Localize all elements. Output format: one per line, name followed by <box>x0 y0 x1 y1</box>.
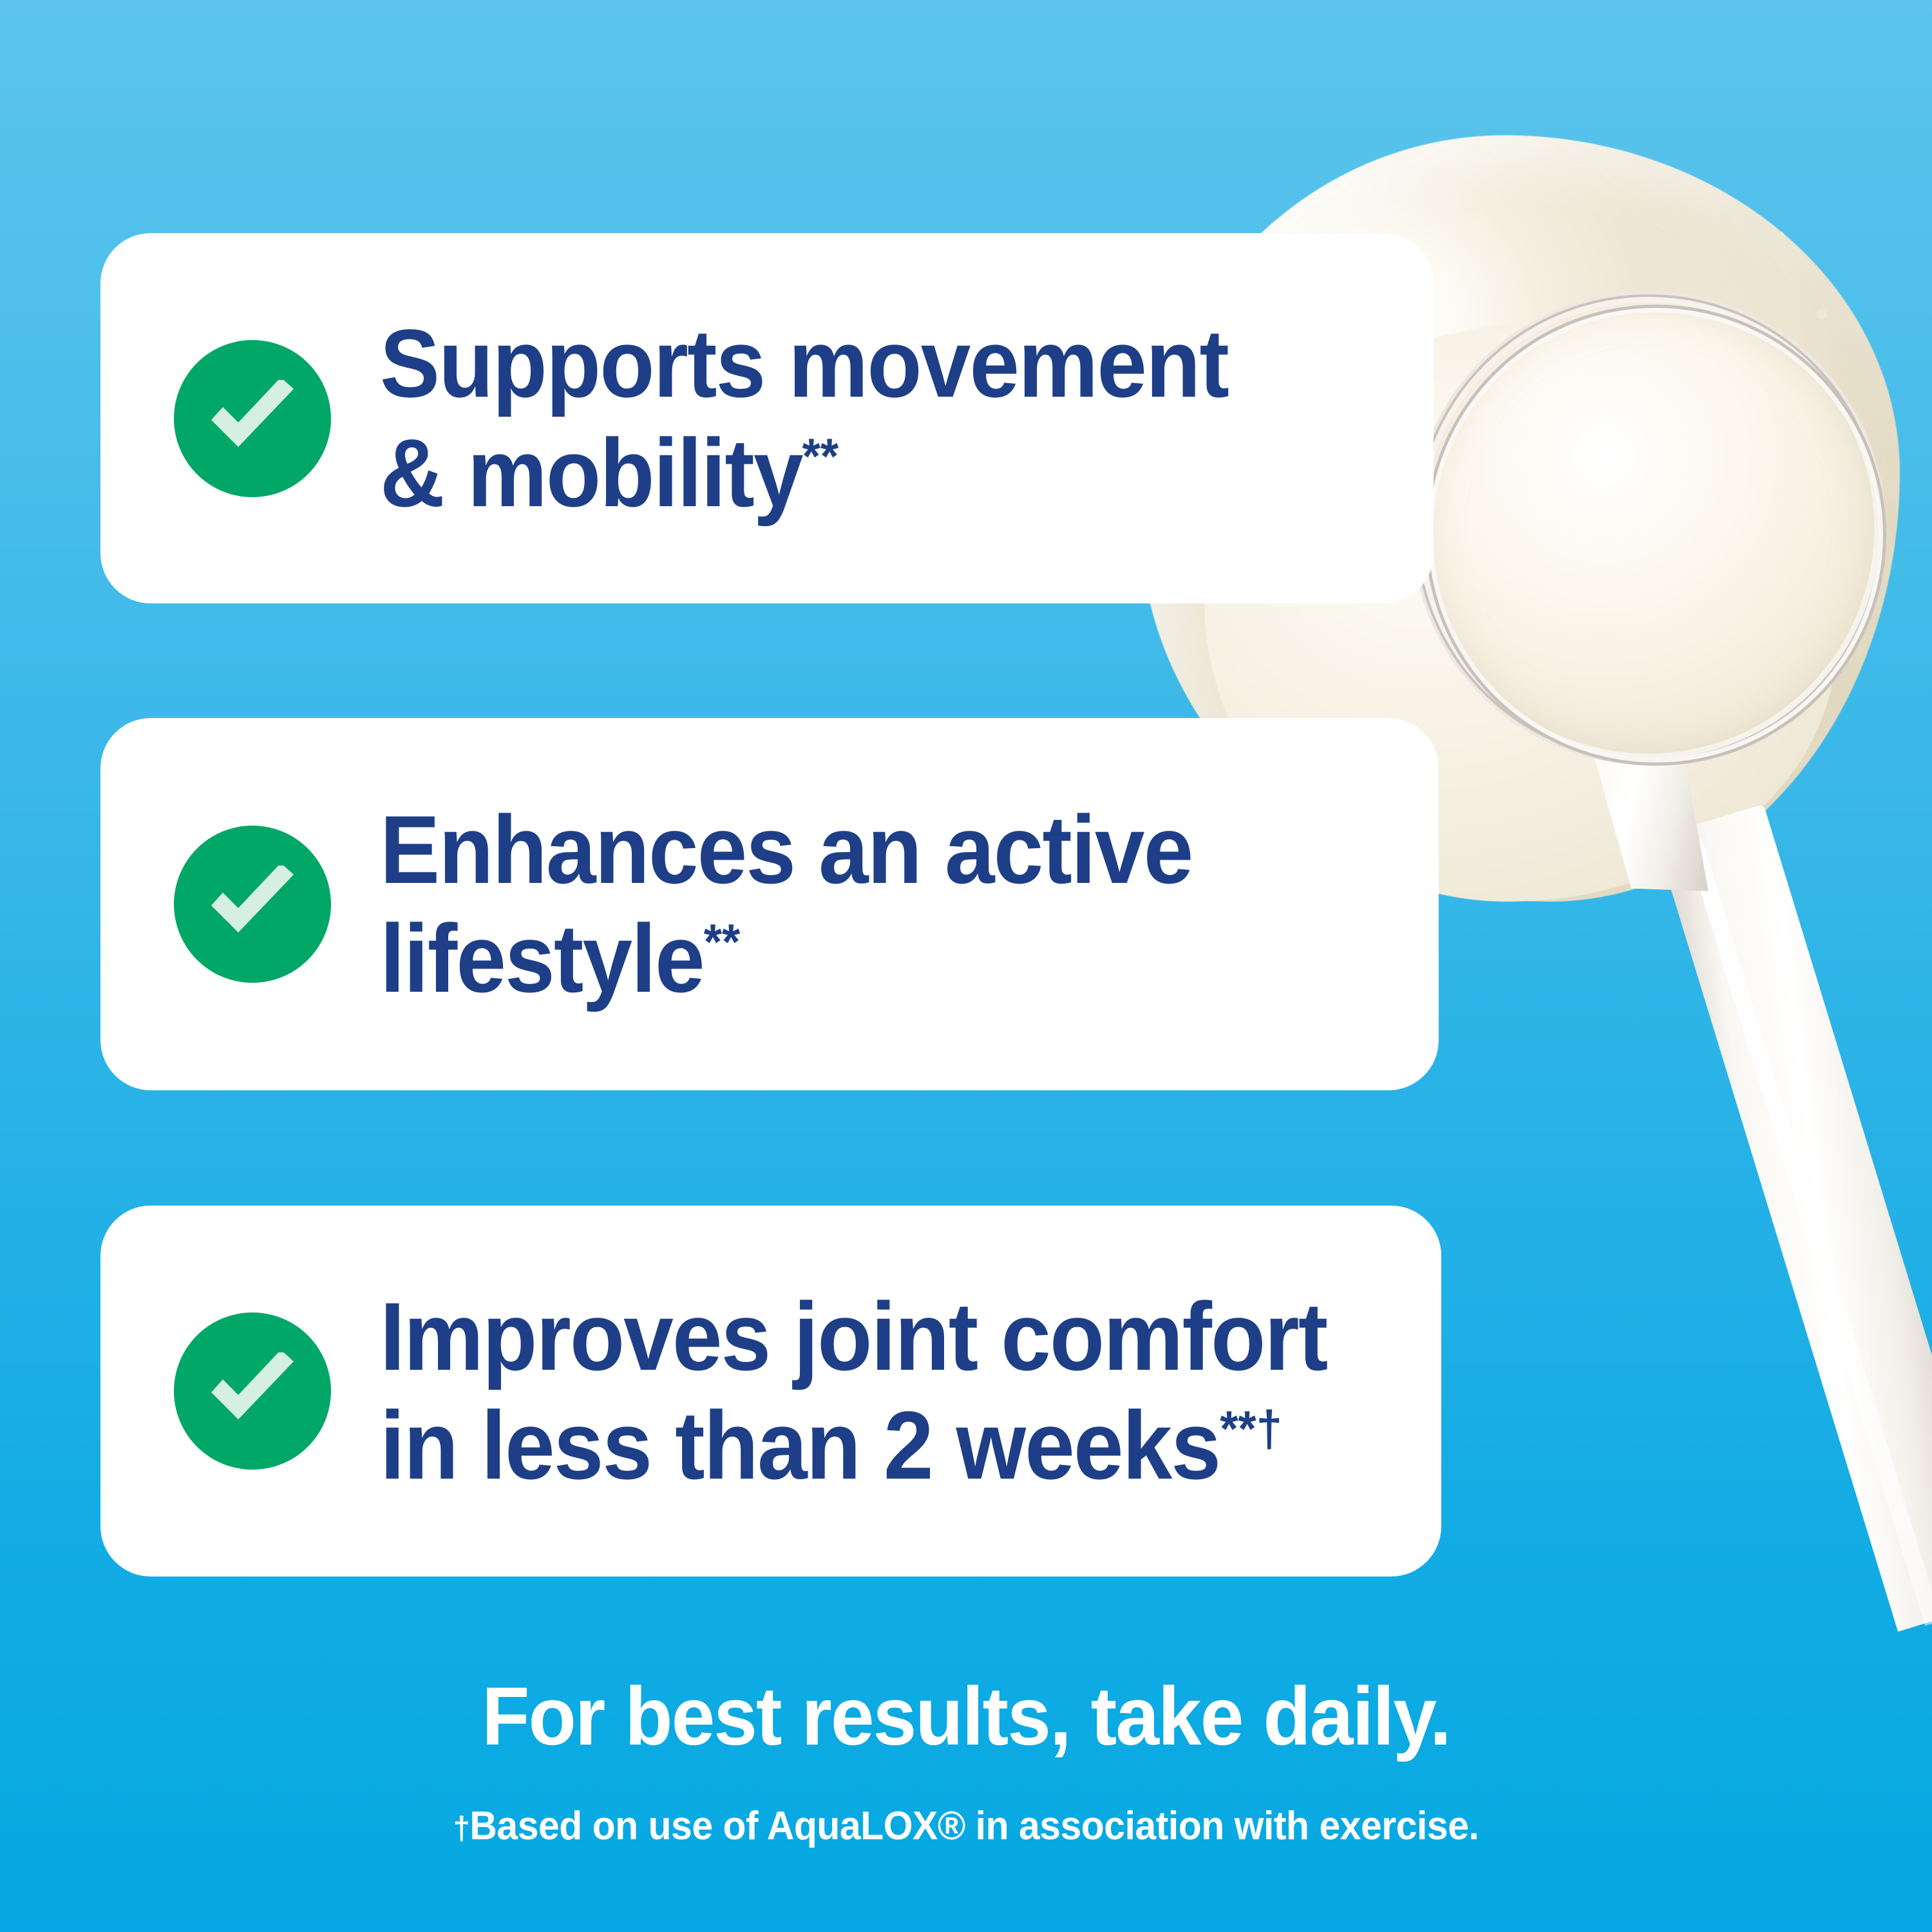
benefit-card-joint-comfort: Improves joint comfortin less than 2 wee… <box>100 1206 1441 1577</box>
check-circle-icon <box>174 340 331 497</box>
benefit-card-text: Enhances an activelifestyle** <box>380 795 1192 1014</box>
powder-speck <box>1816 309 1826 319</box>
benefit-card-text: Supports movement& mobility** <box>380 309 1228 527</box>
tagline: For best results, take daily. <box>48 1669 1884 1764</box>
check-circle-icon <box>174 1312 331 1470</box>
footnote-marker: † <box>453 1810 470 1846</box>
benefit-line-2: lifestyle <box>380 904 704 1012</box>
footnote: †Based on use of AquaLOX® in association… <box>48 1803 1884 1849</box>
benefit-card-active-lifestyle: Enhances an activelifestyle** <box>100 718 1439 1090</box>
benefit-superscript: ** <box>704 913 740 970</box>
scoop-rim <box>1418 298 1893 773</box>
benefit-card-text: Improves joint comfortin less than 2 wee… <box>380 1282 1327 1501</box>
benefit-line-1: Improves joint comfort <box>380 1282 1327 1390</box>
promo-graphic: Supports movement& mobility** Enhances a… <box>0 0 1932 1932</box>
benefit-line-1: Supports movement <box>380 309 1228 417</box>
benefit-line-2: in less than 2 weeks <box>380 1391 1220 1499</box>
footnote-text: Based on use of AquaLOX® in association … <box>469 1804 1479 1848</box>
benefit-card-movement-mobility: Supports movement& mobility** <box>100 233 1434 603</box>
benefit-line-2: & mobility <box>380 419 802 527</box>
benefit-superscript: **† <box>1220 1400 1282 1457</box>
benefit-superscript: ** <box>802 428 838 484</box>
benefit-line-1: Enhances an active <box>380 795 1192 904</box>
powder-speck <box>1777 232 1785 239</box>
check-circle-icon <box>174 826 331 983</box>
